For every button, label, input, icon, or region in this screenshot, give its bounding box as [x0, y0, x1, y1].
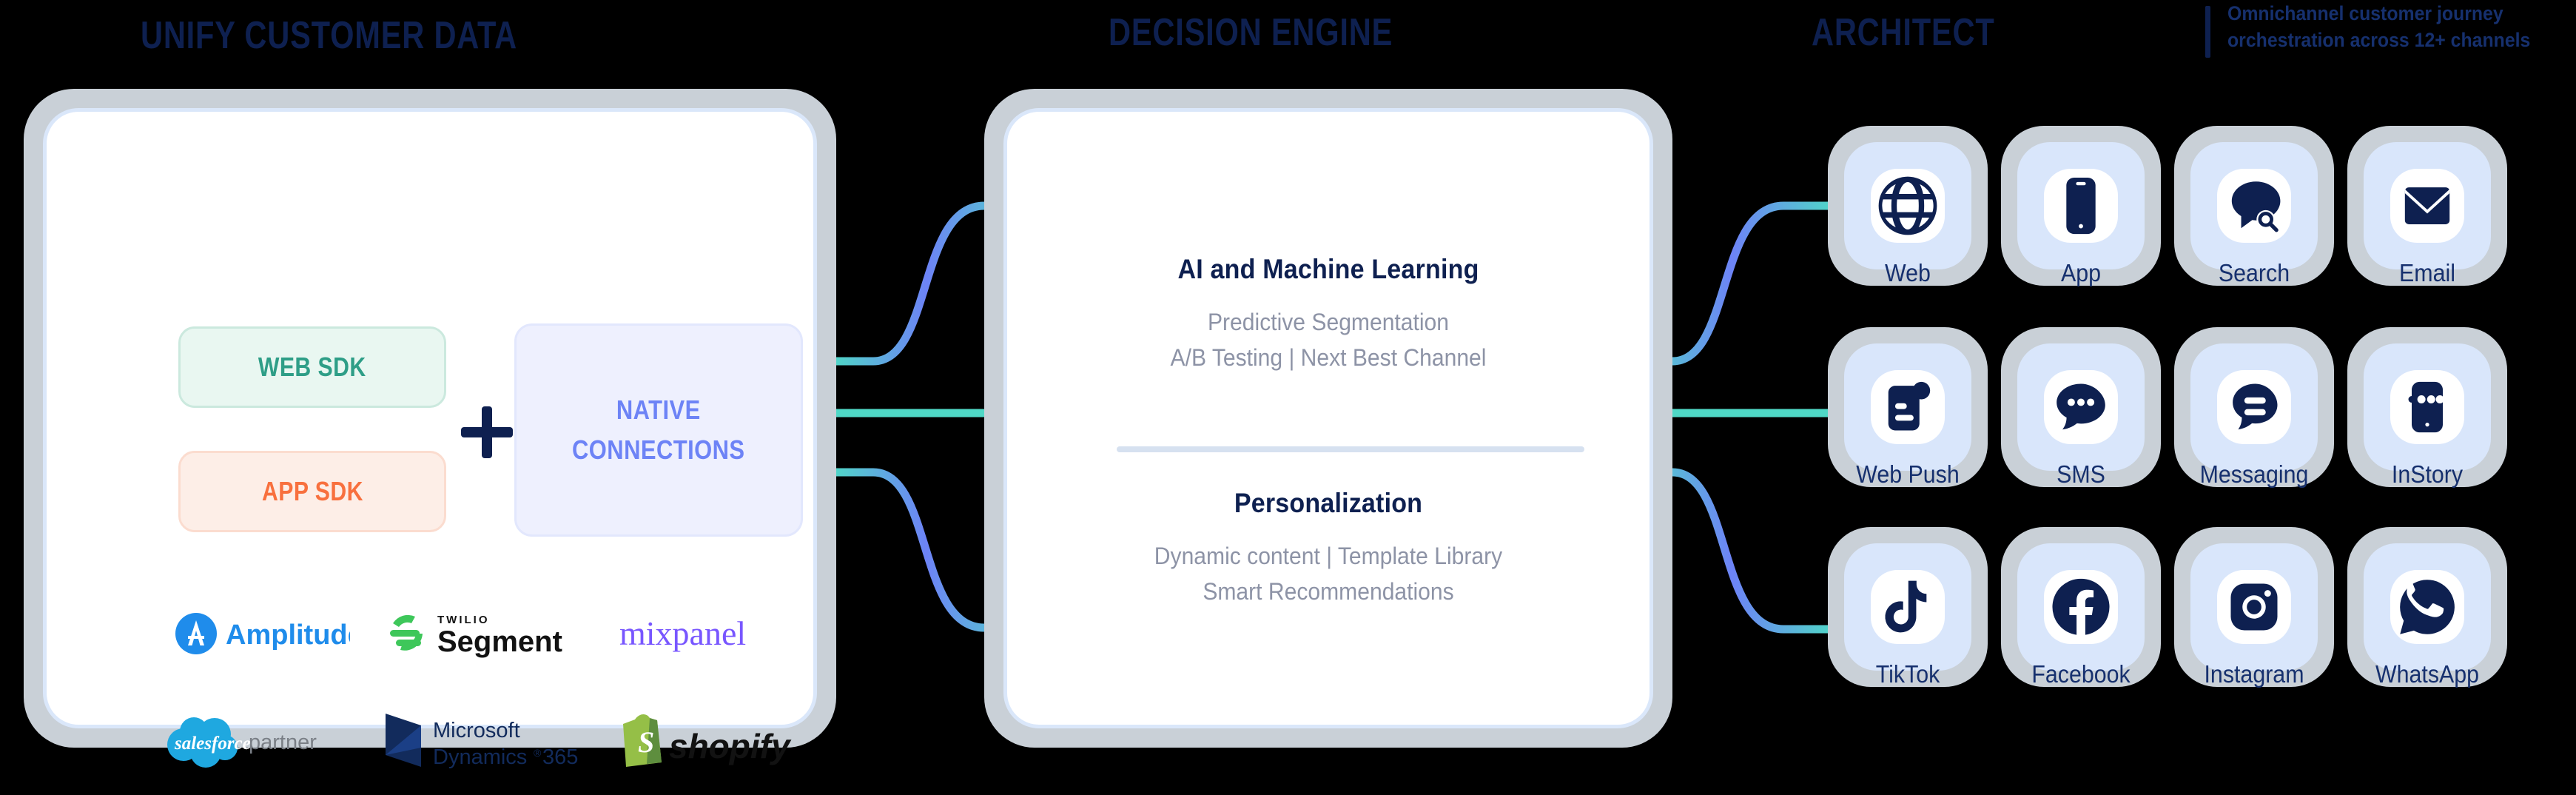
svg-text:Segment: Segment: [437, 625, 562, 658]
envelope-icon: [2396, 175, 2458, 237]
channel-icon-container: [2217, 570, 2291, 644]
channel-icon-container: [2217, 169, 2291, 243]
web-sdk-chip[interactable]: WEB SDK: [178, 326, 446, 408]
channel-label-instory: InStory: [2325, 460, 2529, 489]
heading-divider: [2205, 6, 2210, 58]
sms-bubble-icon: [2050, 376, 2112, 438]
facebook-icon: [2050, 576, 2112, 638]
native-connections-chip[interactable]: NATIVE CONNECTIONS: [514, 323, 803, 537]
app-sdk-chip[interactable]: APP SDK: [178, 451, 446, 532]
architect-subtitle: Omnichannel customer journey orchestrati…: [2227, 0, 2547, 53]
logo-microsoft-dynamics[interactable]: Microsoft Dynamics ® 365: [372, 704, 594, 778]
segment-logo: TWILIO Segment: [387, 607, 579, 660]
svg-text:salesforce: salesforce: [174, 734, 251, 754]
messaging-icon: [2223, 376, 2285, 438]
microsoft-dynamics-logo: Microsoft Dynamics ® 365: [380, 709, 587, 773]
channel-icon-container: [2390, 370, 2464, 444]
channel-card-frame: [2190, 142, 2318, 269]
channel-card-frame: [2190, 543, 2318, 671]
engine-section-divider: [1117, 446, 1584, 452]
channel-icon-container: [1871, 370, 1945, 444]
amplitude-logo: Amplitude: [172, 611, 350, 657]
engine-block-personalization-line-1: Dynamic content | Template Library: [1026, 538, 1630, 574]
mobile-phone-icon: [2050, 175, 2112, 237]
channel-icon-container: [2390, 570, 2464, 644]
tiktok-icon: [1877, 576, 1939, 638]
diagram-canvas: UNIFY CUSTOMER DATA DECISION ENGINE ARCH…: [0, 0, 2576, 795]
svg-text:365: 365: [542, 745, 578, 769]
engine-block-ai-title: AI and Machine Learning: [1033, 254, 1624, 285]
svg-text:S: S: [638, 725, 654, 759]
svg-text:Amplitude: Amplitude: [226, 620, 350, 651]
svg-text:Dynamics: Dynamics: [433, 745, 527, 769]
svg-text:partner: partner: [249, 731, 317, 754]
decision-panel-inner: AI and Machine Learning Predictive Segme…: [1003, 108, 1653, 728]
svg-text:®: ®: [534, 747, 542, 759]
instagram-icon: [2223, 576, 2285, 638]
logo-salesforce-partner[interactable]: salesforce partner: [150, 704, 372, 778]
channel-card-frame: [1844, 543, 1971, 671]
globe-icon: [1877, 175, 1939, 237]
unify-panel-inner: WEB SDK APP SDK NATIVE CONNECTIONS: [43, 108, 817, 728]
unify-customer-data-panel: WEB SDK APP SDK NATIVE CONNECTIONS: [24, 89, 836, 748]
integration-logo-row-2: salesforce partner Microsoft Dynamics ® …: [150, 704, 816, 778]
engine-block-personalization: Personalization Dynamic content | Templa…: [1007, 488, 1649, 609]
channel-card-frame: [2364, 343, 2491, 471]
salesforce-logo: salesforce partner: [161, 709, 361, 773]
channel-icon-container: [2217, 370, 2291, 444]
decision-engine-panel: AI and Machine Learning Predictive Segme…: [984, 89, 1672, 748]
web-push-icon: [1877, 376, 1939, 438]
channel-label-whatsapp: WhatsApp: [2325, 660, 2529, 688]
shopify-logo: S shopify: [613, 709, 798, 773]
native-connections-line2: CONNECTIONS: [572, 430, 745, 470]
svg-text:Microsoft: Microsoft: [433, 719, 520, 742]
channel-icon-container: [2044, 370, 2118, 444]
integration-logo-row-1: Amplitude TWILIO Segment: [150, 600, 816, 667]
svg-text:mixpanel: mixpanel: [619, 614, 746, 652]
engine-block-ai-line-1: Predictive Segmentation: [1026, 304, 1630, 340]
engine-block-ai: AI and Machine Learning Predictive Segme…: [1007, 254, 1649, 375]
svg-text:TWILIO: TWILIO: [437, 614, 490, 626]
channel-card-frame: [2190, 343, 2318, 471]
search-bubble-icon: [2223, 175, 2285, 237]
plus-icon: [461, 406, 513, 458]
channel-icon-container: [2044, 169, 2118, 243]
channel-card-frame: [2364, 543, 2491, 671]
channel-card-frame: [2364, 142, 2491, 269]
section-heading-architect: ARCHITECT: [1812, 10, 1995, 55]
logo-amplitude[interactable]: Amplitude: [150, 600, 372, 667]
native-connections-line1: NATIVE: [572, 390, 745, 430]
section-heading-unify: UNIFY CUSTOMER DATA: [141, 13, 517, 58]
logo-shopify[interactable]: S shopify: [594, 704, 816, 778]
logo-twilio-segment[interactable]: TWILIO Segment: [372, 600, 594, 667]
engine-block-ai-line-2: A/B Testing | Next Best Channel: [1026, 340, 1630, 375]
channel-label-email: Email: [2325, 259, 2529, 287]
web-sdk-label: WEB SDK: [258, 352, 366, 383]
native-connections-label: NATIVE CONNECTIONS: [572, 390, 745, 470]
whatsapp-icon: [2396, 576, 2458, 638]
app-sdk-label: APP SDK: [262, 476, 363, 507]
channel-icon-container: [1871, 570, 1945, 644]
instory-icon: [2396, 376, 2458, 438]
engine-block-personalization-line-2: Smart Recommendations: [1026, 574, 1630, 609]
channel-card-frame: [2017, 543, 2145, 671]
channel-card-frame: [2017, 142, 2145, 269]
channel-card-frame: [1844, 343, 1971, 471]
section-heading-decision: DECISION ENGINE: [1109, 10, 1393, 55]
engine-block-personalization-title: Personalization: [1033, 488, 1624, 519]
mixpanel-logo: mixpanel: [616, 611, 794, 657]
channel-icon-container: [1871, 169, 1945, 243]
channel-card-frame: [1844, 142, 1971, 269]
channel-icon-container: [2390, 169, 2464, 243]
logo-mixpanel[interactable]: mixpanel: [594, 600, 816, 667]
channel-card-frame: [2017, 343, 2145, 471]
svg-text:shopify: shopify: [669, 727, 792, 765]
channel-icon-container: [2044, 570, 2118, 644]
